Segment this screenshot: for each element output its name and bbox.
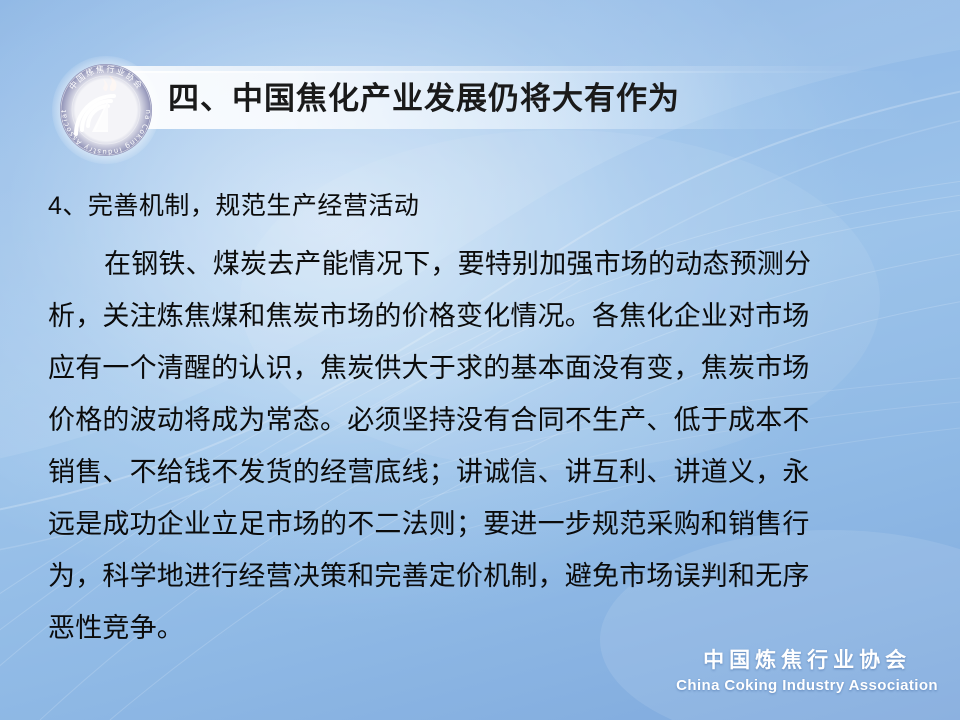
- paragraph-line: 在钢铁、煤炭去产能情况下，要特别加强市场的动态预测分: [48, 238, 924, 290]
- paragraph-line: 应有一个清醒的认识，焦炭供大于求的基本面没有变，焦炭市场: [48, 342, 924, 394]
- section-heading: 4、完善机制，规范生产经营活动: [48, 188, 924, 224]
- footer-watermark: 中国炼焦行业协会 China Coking Industry Associati…: [676, 647, 938, 696]
- paragraph-line: 销售、不给钱不发货的经营底线；讲诚信、讲互利、讲道义，永: [48, 446, 924, 498]
- logo-glow: [52, 56, 160, 164]
- paragraph-line: 析，关注炼焦煤和焦炭市场的价格变化情况。各焦化企业对市场: [48, 290, 924, 342]
- paragraph-line: 为，科学地进行经营决策和完善定价机制，避免市场误判和无序: [48, 550, 924, 602]
- paragraph-line: 远是成功企业立足市场的不二法则；要进一步规范采购和销售行: [48, 498, 924, 550]
- footer-org-name-cn: 中国炼焦行业协会: [676, 647, 938, 675]
- paragraph-line: 价格的波动将成为常态。必须坚持没有合同不生产、低于成本不: [48, 394, 924, 446]
- association-logo: 中国炼焦行业协会 China Coking Industry Associati…: [52, 56, 160, 164]
- page-title: 四、中国焦化产业发展仍将大有作为: [168, 75, 680, 123]
- slide-body: 4、完善机制，规范生产经营活动 在钢铁、煤炭去产能情况下，要特别加强市场的动态预…: [48, 188, 924, 654]
- presentation-slide: 四、中国焦化产业发展仍将大有作为 中国炼焦行业协会 China Coking I…: [0, 0, 960, 720]
- footer-org-name-en: China Coking Industry Association: [676, 676, 938, 696]
